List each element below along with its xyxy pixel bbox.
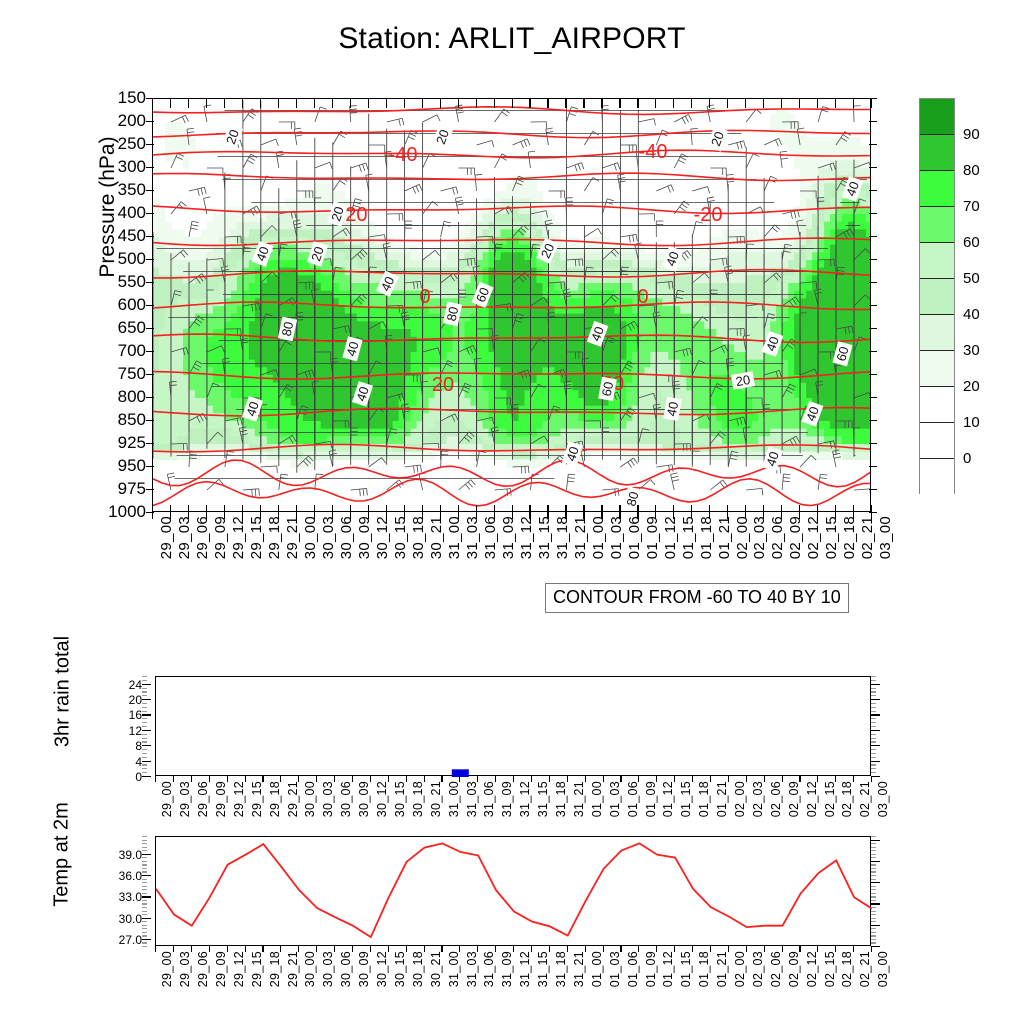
x-tick-label: 02_00: [733, 951, 747, 987]
x-tick-label: 30_09: [356, 516, 373, 559]
main-x-tick-top: [476, 98, 477, 108]
temp-plot[interactable]: [155, 836, 871, 946]
rain-x-tick: [567, 776, 568, 782]
contour-note: CONTOUR FROM -60 TO 40 BY 10: [545, 583, 849, 613]
x-tick-label: 01_21: [715, 781, 729, 817]
main-y-tick-left: [146, 236, 154, 237]
x-tick-label: 02_15: [823, 781, 837, 817]
main-x-tick-bottom: [206, 505, 207, 519]
main-y-tick-label: 400: [118, 204, 146, 221]
main-x-tick-top: [404, 98, 405, 108]
temp-y-right-tick: [871, 879, 876, 880]
temp-y-tick: [142, 918, 151, 919]
rain-y-axis: 04812162024: [100, 676, 142, 776]
main-y-tick-left: [146, 351, 154, 352]
main-x-tick-bottom: [314, 505, 315, 519]
rain-y-right-tick: [871, 695, 876, 696]
rain-y-right-tick: [871, 734, 876, 735]
temp-y-minor-tick: [142, 889, 147, 890]
rain-x-tick: [280, 776, 281, 782]
main-x-tick-top: [565, 98, 566, 108]
main-x-tick-bottom: [619, 505, 620, 519]
main-x-tick-bottom: [799, 505, 800, 519]
temp-y-right-tick: [871, 928, 876, 929]
colorbar-segment: [920, 315, 954, 351]
rain-plot[interactable]: [155, 676, 871, 776]
x-tick-label: 03_00: [877, 516, 894, 559]
x-tick-label: 29_09: [214, 781, 228, 817]
x-tick-label: 31_00: [446, 516, 463, 559]
humidity-colorbar: [919, 98, 955, 494]
main-y-tick-right: [869, 121, 877, 122]
rain-y-minor-tick: [142, 734, 147, 735]
rain-y-minor-tick: [142, 722, 147, 723]
main-y-tick-left: [146, 305, 154, 306]
rain-x-tick: [298, 776, 299, 782]
x-tick-label: 30_00: [303, 781, 317, 817]
rain-x-tick: [352, 776, 353, 782]
rain-y-right-tick: [871, 684, 880, 685]
main-y-tick-label: 250: [118, 135, 146, 152]
red-contour-label-20: 20: [432, 374, 454, 396]
x-tick-label: 29_18: [268, 951, 282, 987]
temp-y-axis: 27.030.033.036.039.0: [92, 836, 142, 946]
temp-x-tick: [209, 946, 210, 952]
rain-y-tick-label: 4: [135, 755, 142, 769]
temp-y-minor-tick: [142, 925, 147, 926]
x-tick-label: 02_12: [805, 951, 819, 987]
colorbar-tick-label: 90: [963, 126, 980, 143]
x-tick-label: 29_00: [160, 781, 174, 817]
main-y-tick-right: [869, 213, 877, 214]
x-tick-label: 31_21: [572, 516, 589, 559]
x-tick-label: 30_15: [392, 516, 409, 559]
main-x-tick-top: [799, 98, 800, 108]
main-x-tick-bottom: [601, 505, 602, 519]
red-contour-label--40: -40: [639, 141, 668, 163]
main-x-tick-top: [170, 98, 171, 108]
rain-x-tick: [638, 776, 639, 782]
rain-y-tick: [142, 776, 151, 777]
temp-x-tick: [710, 946, 711, 952]
x-tick-label: 29_18: [268, 781, 282, 817]
upper-air-cross-section-plot[interactable]: -40-40-20-200020202020202020204040604040…: [152, 98, 871, 512]
temp-y-right-tick: [871, 939, 876, 940]
rain-x-tick: [835, 776, 836, 782]
temp-x-tick: [531, 946, 532, 952]
rain-y-tick: [142, 684, 151, 685]
temp-y-minor-tick: [142, 900, 147, 901]
main-y-tick-left: [146, 420, 154, 421]
rain-y-minor-tick: [142, 757, 147, 758]
main-y-tick-label: 700: [118, 342, 146, 359]
x-tick-label: 30_12: [374, 516, 391, 559]
x-tick-label: 02_06: [769, 781, 783, 817]
rain-y-right-tick: [871, 764, 876, 765]
x-tick-label: 31_03: [465, 781, 479, 817]
rain-x-tick: [334, 776, 335, 782]
main-x-tick-bottom: [727, 505, 728, 519]
main-x-tick-top: [386, 98, 387, 108]
temp-x-tick: [370, 946, 371, 952]
rain-x-tick: [262, 776, 263, 782]
main-x-tick-bottom: [368, 505, 369, 519]
x-tick-label: 01_21: [716, 516, 733, 559]
x-tick-label: 30_12: [375, 951, 389, 987]
main-x-tick-top: [224, 98, 225, 108]
main-y-tick-left: [146, 374, 154, 375]
x-tick-label: 29_21: [286, 781, 300, 817]
temp-y-minor-tick: [142, 850, 147, 851]
temp-x-tick: [638, 946, 639, 952]
main-y-tick-label: 150: [118, 89, 146, 106]
temp-x-tick: [835, 946, 836, 952]
rain-x-tick: [388, 776, 389, 782]
temp-x-tick: [728, 946, 729, 952]
temp-x-tick: [620, 946, 621, 952]
x-tick-label: 31_18: [554, 951, 568, 987]
colorbar-tick-label: 60: [963, 234, 980, 251]
temp-y-right-tick: [871, 850, 876, 851]
x-tick-label: 30_06: [338, 516, 355, 559]
temp-y-minor-tick: [142, 914, 147, 915]
x-tick-label: 02_15: [823, 516, 840, 559]
cross-section-svg: -40-40-20-200020202020202020204040604040…: [153, 99, 870, 511]
colorbar-tick-label: 80: [963, 162, 980, 179]
main-y-tick-label: 600: [118, 296, 146, 313]
rain-x-tick: [764, 776, 765, 782]
main-x-tick-top: [152, 98, 153, 108]
temp-y-minor-tick: [142, 840, 147, 841]
main-x-tick-bottom: [350, 505, 351, 519]
temp-y-tick: [142, 875, 151, 876]
x-tick-label: 01_06: [626, 516, 643, 559]
rain-y-tick-label: 16: [129, 708, 142, 722]
temp-x-tick: [549, 946, 550, 952]
rain-x-tick: [370, 776, 371, 782]
temp-x-tick: [513, 946, 514, 952]
main-y-tick-left: [146, 328, 154, 329]
temp-x-tick: [227, 946, 228, 952]
x-tick-label: 30_09: [357, 781, 371, 817]
main-x-tick-bottom: [817, 505, 818, 519]
temp-y-right-tick: [871, 907, 876, 908]
rain-y-minor-tick: [142, 741, 147, 742]
main-x-tick-bottom: [188, 505, 189, 519]
main-x-tick-bottom: [152, 505, 153, 519]
main-x-tick-top: [817, 98, 818, 108]
x-tick-label: 31_03: [464, 516, 481, 559]
x-tick-label: 30_15: [393, 781, 407, 817]
x-tick-label: 30_09: [357, 951, 371, 987]
temp-y-minor-tick: [142, 935, 147, 936]
temp-y-right-tick: [871, 932, 876, 933]
temp-y-right-tick: [871, 918, 876, 919]
main-x-tick-bottom: [458, 505, 459, 519]
x-tick-label: 03_00: [876, 951, 890, 987]
humidity-contour-label-20: 20: [432, 124, 454, 150]
main-y-tick-left: [146, 167, 154, 168]
main-x-tick-bottom: [835, 505, 836, 519]
x-tick-label: 31_18: [554, 516, 571, 559]
temp-x-tick: [459, 946, 460, 952]
colorbar-segment: [920, 423, 954, 459]
rain-x-tick: [406, 776, 407, 782]
temp-y-minor-tick: [142, 932, 147, 933]
main-y-tick-right: [869, 144, 877, 145]
temp-y-minor-tick: [142, 921, 147, 922]
main-x-tick-bottom: [745, 505, 746, 519]
colorbar-segment: [920, 171, 954, 207]
x-tick-label: 31_00: [447, 781, 461, 817]
temp-x-tick: [603, 946, 604, 952]
temp-y-right-tick: [871, 886, 876, 887]
main-x-tick-bottom: [637, 505, 638, 519]
rain-x-tick: [459, 776, 460, 782]
rain-y-minor-tick: [142, 764, 147, 765]
rain-x-tick: [603, 776, 604, 782]
rain-y-tick-label: 24: [129, 678, 142, 692]
main-y-tick-right: [869, 167, 877, 168]
rain-x-tick: [549, 776, 550, 782]
temp-x-tick: [656, 946, 657, 952]
x-tick-label: 01_00: [590, 516, 607, 559]
temp-y-right-tick: [871, 903, 880, 904]
temp-y-minor-tick: [142, 903, 147, 904]
x-tick-label: 29_03: [178, 781, 192, 817]
x-tick-label: 01_09: [644, 516, 661, 559]
x-tick-label: 01_06: [626, 781, 640, 817]
main-y-tick-label: 975: [118, 480, 146, 497]
x-tick-label: 29_03: [178, 951, 192, 987]
main-x-tick-top: [206, 98, 207, 108]
rain-y-right-tick: [871, 707, 876, 708]
x-tick-label: 31_03: [465, 951, 479, 987]
rain-y-tick: [142, 745, 151, 746]
temp-x-tick: [334, 946, 335, 952]
temp-line: [156, 843, 872, 937]
main-x-tick-top: [422, 98, 423, 108]
rain-x-tick: [656, 776, 657, 782]
main-x-tick-bottom: [691, 505, 692, 519]
x-tick-label: 30_12: [375, 781, 389, 817]
x-tick-label: 29_12: [232, 781, 246, 817]
temp-x-tick: [799, 946, 800, 952]
x-tick-label: 31_15: [536, 516, 553, 559]
rain-y-right-tick: [871, 757, 876, 758]
x-tick-label: 31_12: [518, 951, 532, 987]
x-tick-label: 01_15: [680, 516, 697, 559]
temp-x-tick: [352, 946, 353, 952]
temp-svg: [156, 837, 872, 947]
main-x-tick-top: [512, 98, 513, 108]
x-tick-label: 02_21: [858, 951, 872, 987]
main-y-tick-label: 200: [118, 112, 146, 129]
temp-y-right-tick: [871, 854, 876, 855]
colorbar-tick-label: 30: [963, 342, 980, 359]
x-tick-label: 31_09: [500, 951, 514, 987]
rain-x-tick: [191, 776, 192, 782]
main-y-tick-right: [869, 351, 877, 352]
colorbar-segment: [920, 99, 954, 135]
rain-y-right-tick: [871, 691, 876, 692]
temp-x-tick: [191, 946, 192, 952]
x-tick-label: 01_00: [590, 951, 604, 987]
red-contour-label--20: -20: [694, 204, 723, 226]
x-tick-label: 02_12: [805, 781, 819, 817]
main-y-tick-left: [146, 466, 154, 467]
colorbar-tick-label: 70: [963, 198, 980, 215]
x-tick-label: 31_18: [554, 781, 568, 817]
temp-x-tick: [155, 946, 156, 952]
x-tick-label: 30_06: [339, 951, 353, 987]
main-y-tick-label: 925: [118, 434, 146, 451]
temp-y-right-tick: [871, 914, 876, 915]
x-tick-label: 30_03: [321, 781, 335, 817]
temp-y-minor-tick: [142, 871, 147, 872]
main-x-tick-bottom: [296, 505, 297, 519]
x-tick-label: 31_09: [500, 516, 517, 559]
rain-y-right-tick: [871, 699, 880, 700]
main-y-tick-left: [146, 190, 154, 191]
main-x-tick-top: [619, 98, 620, 108]
rain-y-tick: [142, 730, 151, 731]
x-tick-label: 29_12: [230, 516, 247, 559]
colorbar-segment: [920, 459, 954, 495]
x-tick-label: 31_06: [482, 781, 496, 817]
rain-y-right-tick: [871, 741, 876, 742]
red-contour-label--40: -40: [389, 144, 418, 166]
rain-x-tick: [424, 776, 425, 782]
x-tick-label: 31_06: [482, 516, 499, 559]
main-y-tick-label: 650: [118, 319, 146, 336]
x-tick-label: 31_12: [518, 516, 535, 559]
colorbar-segment: [920, 387, 954, 423]
main-y-tick-label: 450: [118, 227, 146, 244]
temp-y-minor-tick: [142, 868, 147, 869]
main-y-tick-label: 300: [118, 158, 146, 175]
x-tick-label: 02_03: [751, 781, 765, 817]
temp-y-right-tick: [871, 861, 880, 862]
main-y-tick-left: [146, 489, 154, 490]
x-tick-label: 01_15: [679, 781, 693, 817]
temp-y-right-tick: [871, 882, 880, 883]
rain-y-right-tick: [871, 776, 880, 777]
main-x-tick-bottom: [422, 505, 423, 519]
x-tick-label: 01_18: [697, 781, 711, 817]
temp-x-tick: [316, 946, 317, 952]
x-tick-label: 02_18: [841, 516, 858, 559]
main-x-tick-bottom: [170, 505, 171, 519]
x-tick-label: 29_21: [286, 951, 300, 987]
x-tick-label: 29_15: [250, 781, 264, 817]
main-y-tick-label: 1000: [108, 503, 146, 520]
x-tick-label: 30_03: [320, 516, 337, 559]
main-x-tick-bottom: [709, 505, 710, 519]
x-tick-label: 30_18: [411, 951, 425, 987]
colorbar-segment: [920, 351, 954, 387]
x-tick-label: 29_06: [194, 516, 211, 559]
rain-y-minor-tick: [142, 707, 147, 708]
colorbar-segment: [920, 207, 954, 243]
rain-x-tick: [746, 776, 747, 782]
temp-y-minor-tick: [142, 882, 147, 883]
x-tick-label: 02_21: [858, 781, 872, 817]
temp-x-tick: [245, 946, 246, 952]
x-tick-label: 30_21: [429, 951, 443, 987]
main-x-tick-bottom: [583, 505, 584, 519]
rain-x-tick: [209, 776, 210, 782]
temp-y-tick: [142, 939, 151, 940]
main-x-tick-bottom: [404, 505, 405, 519]
main-y-tick-right: [869, 282, 877, 283]
main-x-tick-top: [655, 98, 656, 108]
rain-x-tick: [531, 776, 532, 782]
rain-y-tick: [142, 714, 151, 715]
temp-x-tick: [782, 946, 783, 952]
rain-x-tick: [710, 776, 711, 782]
rain-y-right-tick: [871, 688, 876, 689]
colorbar-segment: [920, 279, 954, 315]
rain-x-tick: [674, 776, 675, 782]
temp-y-minor-tick: [142, 847, 147, 848]
temp-y-right-tick: [871, 893, 876, 894]
rain-y-right-tick: [871, 676, 876, 677]
main-y-tick-right: [869, 489, 877, 490]
x-tick-label: 01_06: [626, 951, 640, 987]
temp-y-tick: [142, 854, 151, 855]
x-tick-label: 30_06: [339, 781, 353, 817]
x-tick-label: 01_03: [608, 781, 622, 817]
temp-y-minor-tick: [142, 836, 147, 837]
temp-x-tick: [262, 946, 263, 952]
rain-y-right-tick: [871, 753, 876, 754]
rain-y-right-tick: [871, 749, 876, 750]
x-tick-label: 03_00: [876, 781, 890, 817]
colorbar-segment: [920, 243, 954, 279]
x-tick-label: 02_09: [787, 781, 801, 817]
temp-y-tick-label: 27.0: [119, 933, 142, 947]
main-x-tick-bottom: [332, 505, 333, 519]
x-tick-label: 31_09: [500, 781, 514, 817]
main-x-tick-bottom: [440, 505, 441, 519]
main-y-tick-left: [146, 397, 154, 398]
rain-x-tick: [495, 776, 496, 782]
cross-section-canvas: -40-40-20-200020202020202020204040604040…: [153, 99, 870, 511]
x-tick-label: 02_18: [840, 781, 854, 817]
main-x-tick-bottom: [260, 505, 261, 519]
x-tick-label: 01_18: [698, 516, 715, 559]
main-y-tick-right: [869, 259, 877, 260]
rain-y-right-tick: [871, 761, 880, 762]
temp-y-right-tick: [871, 857, 876, 858]
rain-y-right-tick: [871, 745, 880, 746]
main-x-tick-bottom: [853, 505, 854, 519]
temp-y-minor-tick: [142, 857, 147, 858]
x-tick-label: 01_18: [697, 951, 711, 987]
main-x-tick-bottom: [673, 505, 674, 519]
main-y-tick-left: [146, 443, 154, 444]
main-y-tick-label: 550: [118, 273, 146, 290]
rain-y-tick: [142, 761, 151, 762]
main-x-tick-top: [601, 98, 602, 108]
rain-x-tick: [585, 776, 586, 782]
rain-y-minor-tick: [142, 718, 147, 719]
main-x-tick-top: [494, 98, 495, 108]
main-x-tick-top: [871, 98, 872, 108]
humidity-contour-label-20: 20: [222, 124, 244, 150]
x-tick-label: 02_09: [787, 516, 804, 559]
